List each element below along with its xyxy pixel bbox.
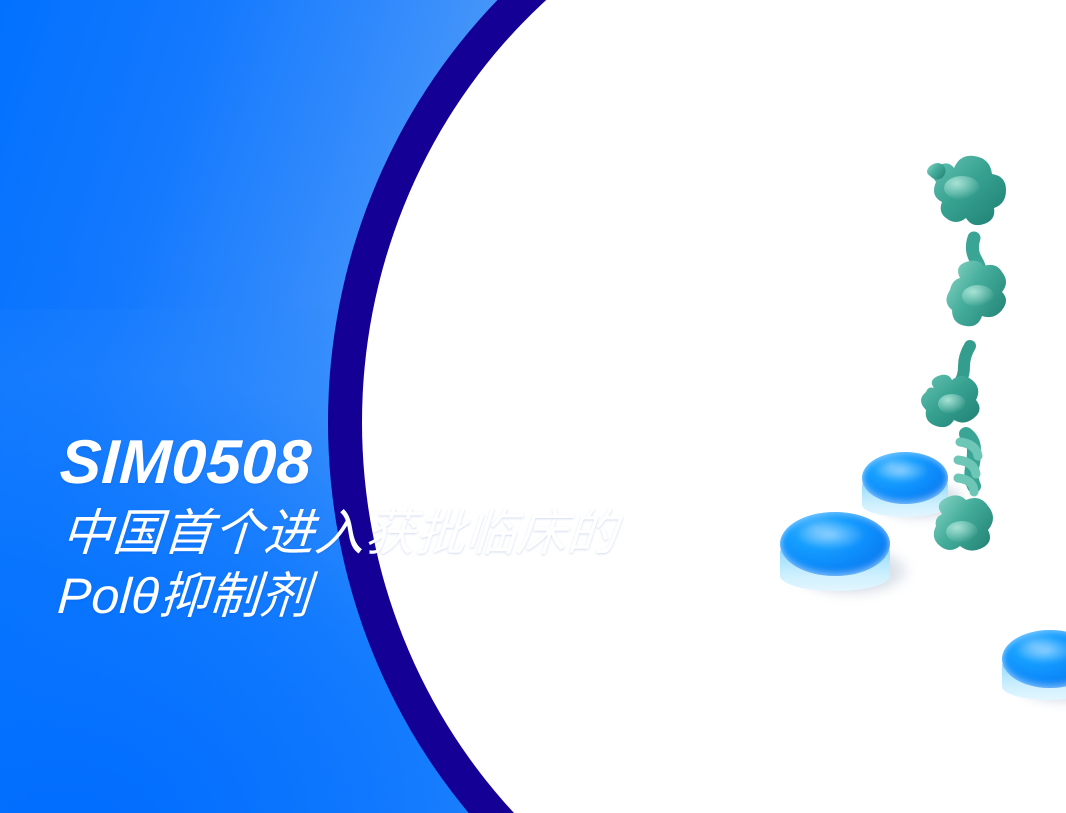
protein-highlight <box>962 285 994 307</box>
headline-block: SIM0508 中国首个进入获批临床的 Polθ抑制剂 <box>60 432 616 628</box>
product-name: SIM0508 <box>58 432 617 494</box>
protein-loop-1 <box>927 163 946 180</box>
tablet-7-overlay <box>1002 630 1066 730</box>
tablet-gloss <box>799 521 863 549</box>
protein-highlight <box>944 176 980 200</box>
protein-highlight <box>946 521 978 543</box>
protein-structure-3d <box>900 150 1050 570</box>
protein-icon <box>900 150 1050 570</box>
product-tagline: 中国首个进入获批临床的 Polθ抑制剂 <box>56 502 620 628</box>
protein-highlight <box>938 394 966 414</box>
tablet-gloss <box>1018 638 1066 663</box>
poster-canvas: SIM0508 中国首个进入获批临床的 Polθ抑制剂 <box>0 0 1066 813</box>
